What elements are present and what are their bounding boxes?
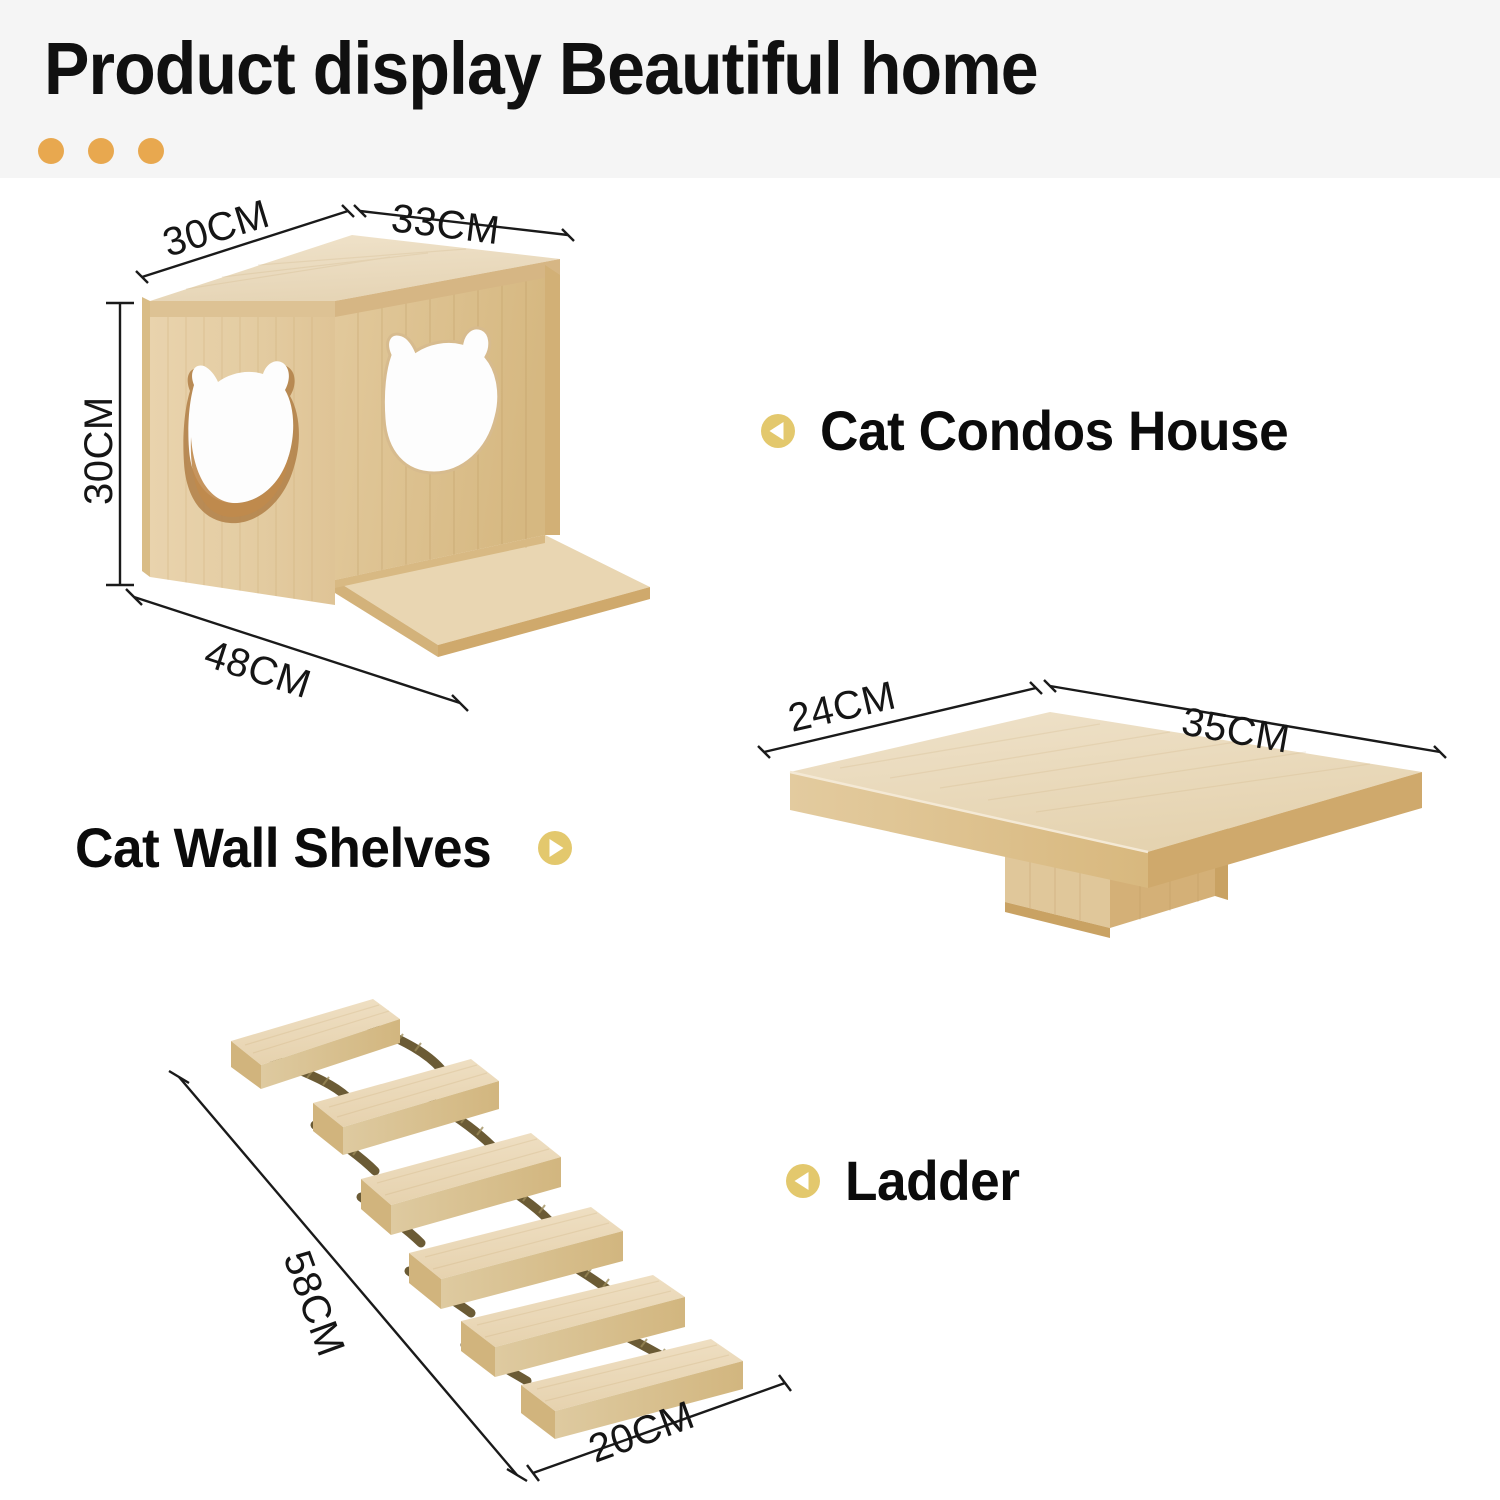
page-title: Product display Beautiful home <box>44 26 1038 111</box>
header-dot-1 <box>38 138 64 164</box>
ladder-label: Ladder <box>845 1148 1020 1213</box>
page-header: Product display Beautiful home <box>0 0 1500 178</box>
ladder-dim-58: 58CM <box>275 1245 354 1362</box>
header-dot-2 <box>88 138 114 164</box>
header-dots <box>38 138 164 164</box>
product-display-page: Product display Beautiful home <box>0 0 1500 1500</box>
triangle-right-icon <box>535 828 575 868</box>
ladder-slat-2 <box>313 1059 499 1155</box>
shelf-board <box>790 712 1422 888</box>
condo-inner-panel <box>335 265 545 580</box>
ladder-slat-3 <box>361 1133 561 1235</box>
cat-wall-shelves-label: Cat Wall Shelves <box>75 815 491 880</box>
ladder-label-row: Ladder <box>783 1148 1029 1213</box>
ladder-illustration: 58CM 20CM <box>165 985 845 1485</box>
condo-front-panel <box>150 295 335 605</box>
cat-condos-house-label-row: Cat Condos House <box>758 398 1313 463</box>
cat-condos-house-illustration: 30CM 33CM 30CM 48CM <box>90 205 690 725</box>
condo-right-panel <box>545 265 560 535</box>
triangle-left-icon <box>783 1161 823 1201</box>
condo-front-edge <box>142 297 150 577</box>
condo-dim-48-bottom: 48CM <box>199 632 316 707</box>
condo-dim-30-height: 30CM <box>77 396 121 505</box>
condo-dim-30-depth: 30CM <box>158 192 275 266</box>
cat-condos-house-label: Cat Condos House <box>820 398 1288 463</box>
shelf-dim-24: 24CM <box>784 673 900 740</box>
triangle-left-icon <box>758 411 798 451</box>
cat-wall-shelves-label-row: Cat Wall Shelves <box>75 815 575 880</box>
cat-wall-shelves-illustration: 24CM 35CM <box>750 660 1460 990</box>
header-dot-3 <box>138 138 164 164</box>
